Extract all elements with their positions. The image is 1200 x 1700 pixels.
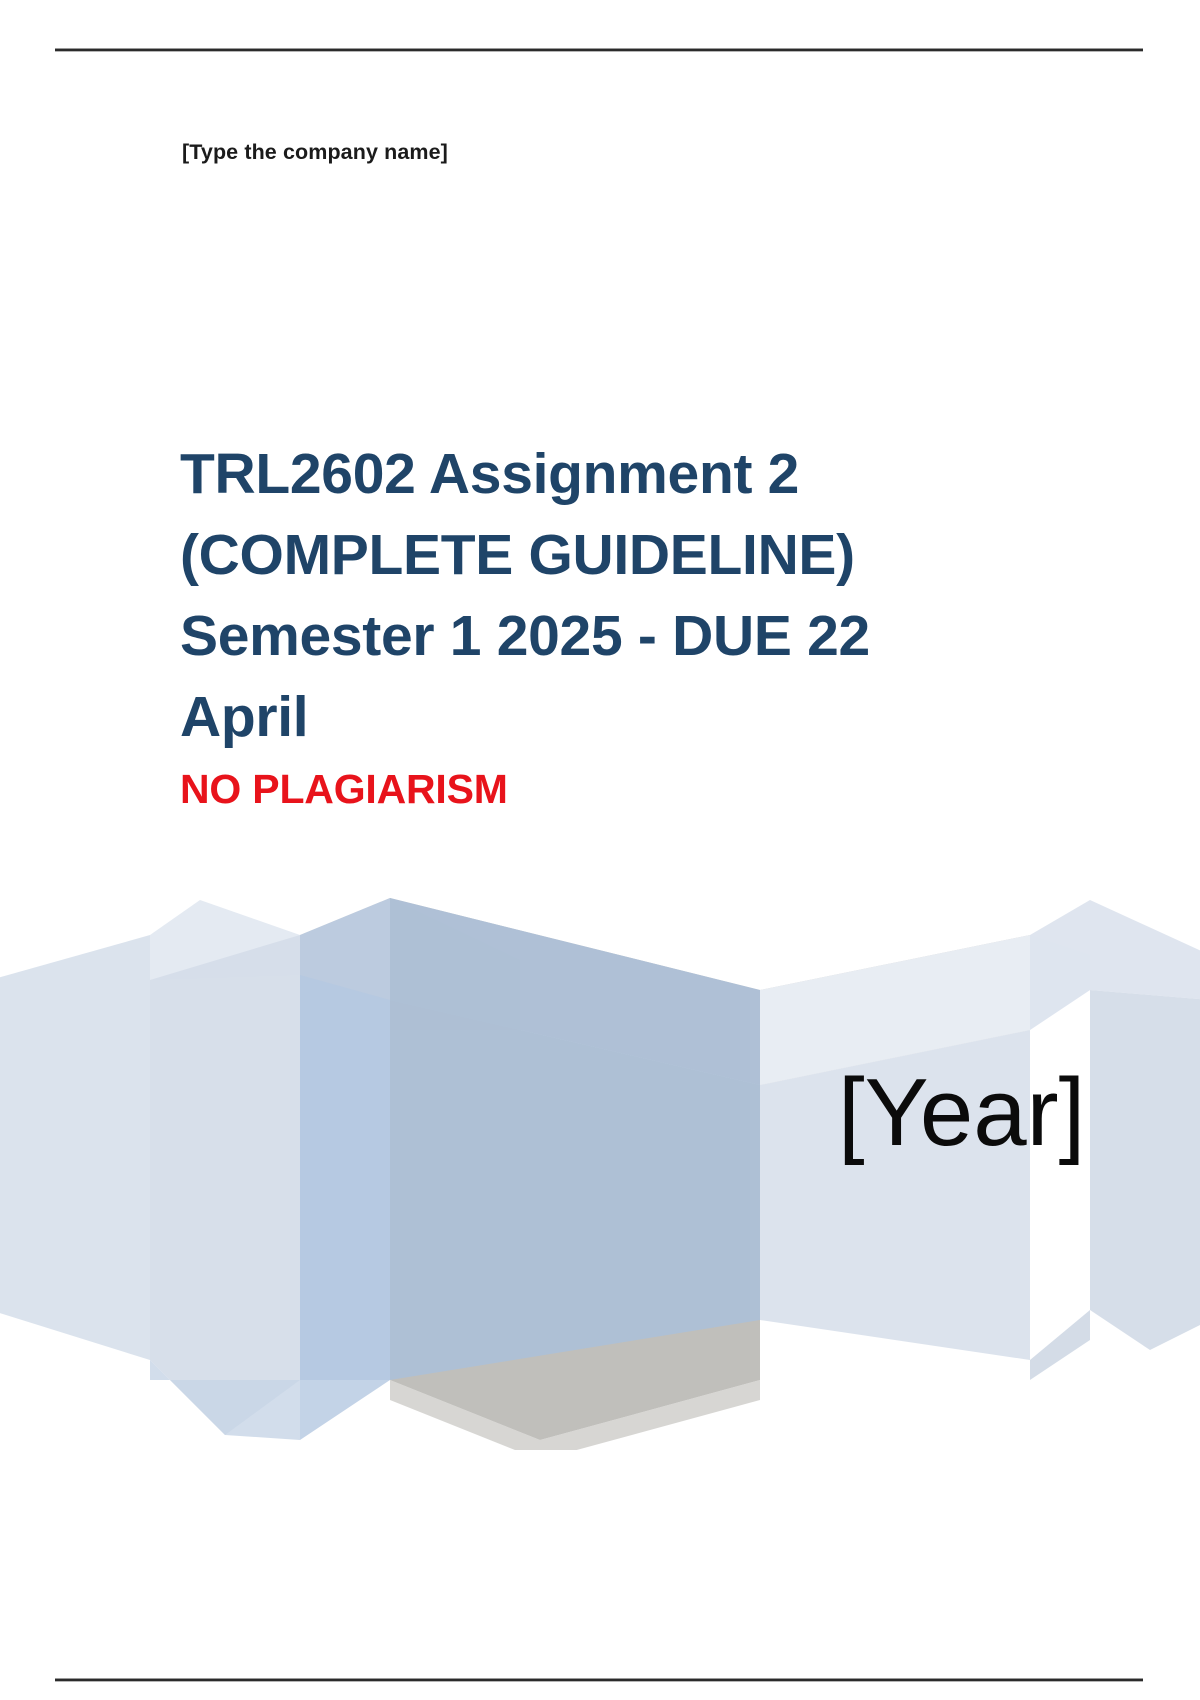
cover-page: [Type the company name] <box>0 0 1200 1700</box>
title-line-2: (COMPLETE GUIDELINE) <box>180 523 855 587</box>
title-line-1: TRL2602 Assignment 2 <box>180 442 799 506</box>
year-placeholder[interactable]: [Year] <box>838 1053 1085 1173</box>
footer-rule <box>55 1678 1143 1682</box>
banner-facet-blue-body <box>390 898 760 1380</box>
title-line-4: April <box>180 685 308 749</box>
document-subtitle: NO PLAGIARISM <box>180 764 940 814</box>
banner-facet-left-panel <box>150 935 300 1435</box>
banner-facet-left-outer <box>0 935 150 1360</box>
banner-facet-blue-lower <box>300 975 390 1440</box>
company-name-placeholder[interactable]: [Type the company name] <box>182 140 448 165</box>
banner-facet-right-bottom <box>1030 1310 1090 1380</box>
title-line-3: Semester 1 2025 - DUE 22 <box>180 604 870 668</box>
title-block: TRL2602 Assignment 2 (COMPLETE GUIDELINE… <box>180 434 940 814</box>
header-rule <box>55 48 1143 52</box>
banner-facet-right-outer <box>1090 990 1200 1350</box>
document-title: TRL2602 Assignment 2 (COMPLETE GUIDELINE… <box>180 434 940 758</box>
